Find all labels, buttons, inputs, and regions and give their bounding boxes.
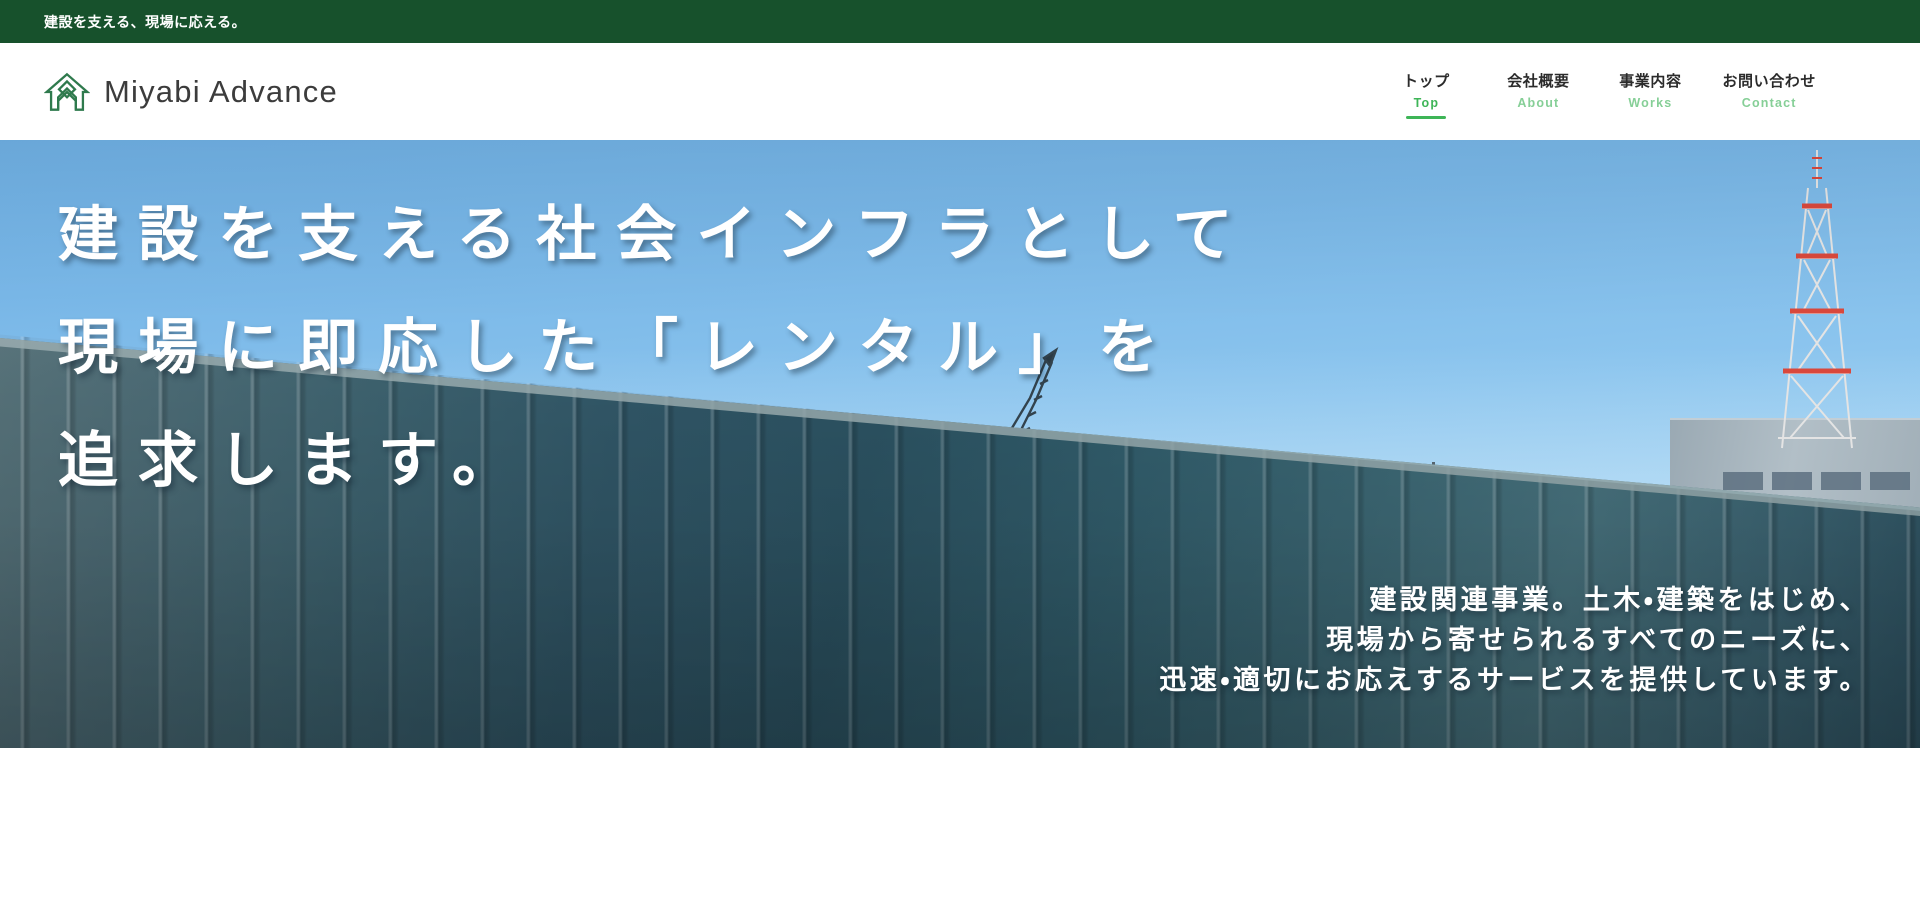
nav-item-contact[interactable]: お問い合わせ Contact [1706, 73, 1832, 110]
nav-label-ja: トップ [1403, 73, 1450, 92]
main-navigation: トップ Top 会社概要 About 事業内容 Works お問い合わせ Con… [1370, 73, 1880, 110]
hero-subtext-line: 建設関連事業。土木・建築をはじめ、 [1159, 580, 1870, 620]
nav-item-top[interactable]: トップ Top [1370, 73, 1482, 110]
brand-name-text: Miyabi Advance [104, 74, 338, 110]
hero-subtext-line: 現場から寄せられるすべてのニーズに、 [1159, 620, 1870, 660]
tagline-text: 建設を支える、現場に応える。 [0, 12, 246, 32]
hero-headline-line: 追求します。 [58, 404, 1253, 517]
page-root: 建設を支える、現場に応える。 Miyabi Advance トップ Top 会社… [0, 0, 1920, 900]
nav-label-en: Top [1414, 96, 1440, 110]
hero-headline-line: 建設を支える社会インフラとして [58, 178, 1253, 291]
nav-label-ja: 事業内容 [1619, 73, 1681, 92]
content-section-below-hero [0, 748, 1920, 900]
nav-item-about[interactable]: 会社概要 About [1482, 73, 1594, 110]
hero-headline-block: 建設を支える社会インフラとして 現場に即応した「レンタル」を 追求します。 [58, 178, 1253, 517]
nav-item-works[interactable]: 事業内容 Works [1594, 73, 1706, 110]
hero-section: 建設を支える社会インフラとして 現場に即応した「レンタル」を 追求します。 建設… [0, 140, 1920, 748]
house-m-logo-icon [44, 70, 90, 114]
top-tagline-bar: 建設を支える、現場に応える。 [0, 0, 1920, 43]
brand-logo-link[interactable]: Miyabi Advance [44, 70, 338, 114]
hero-headline-line: 現場に即応した「レンタル」を [58, 291, 1253, 404]
site-header: Miyabi Advance トップ Top 会社概要 About 事業内容 W… [0, 43, 1920, 140]
hero-subtext-block: 建設関連事業。土木・建築をはじめ、 現場から寄せられるすべてのニーズに、 迅速・… [1159, 580, 1870, 700]
hero-subtext-line: 迅速・適切にお応えするサービスを提供しています。 [1159, 660, 1870, 700]
nav-label-en: Works [1628, 96, 1672, 110]
nav-label-ja: 会社概要 [1507, 73, 1569, 92]
nav-label-en: About [1517, 96, 1559, 110]
nav-label-ja: お問い合わせ [1722, 73, 1816, 92]
nav-label-en: Contact [1742, 96, 1797, 110]
